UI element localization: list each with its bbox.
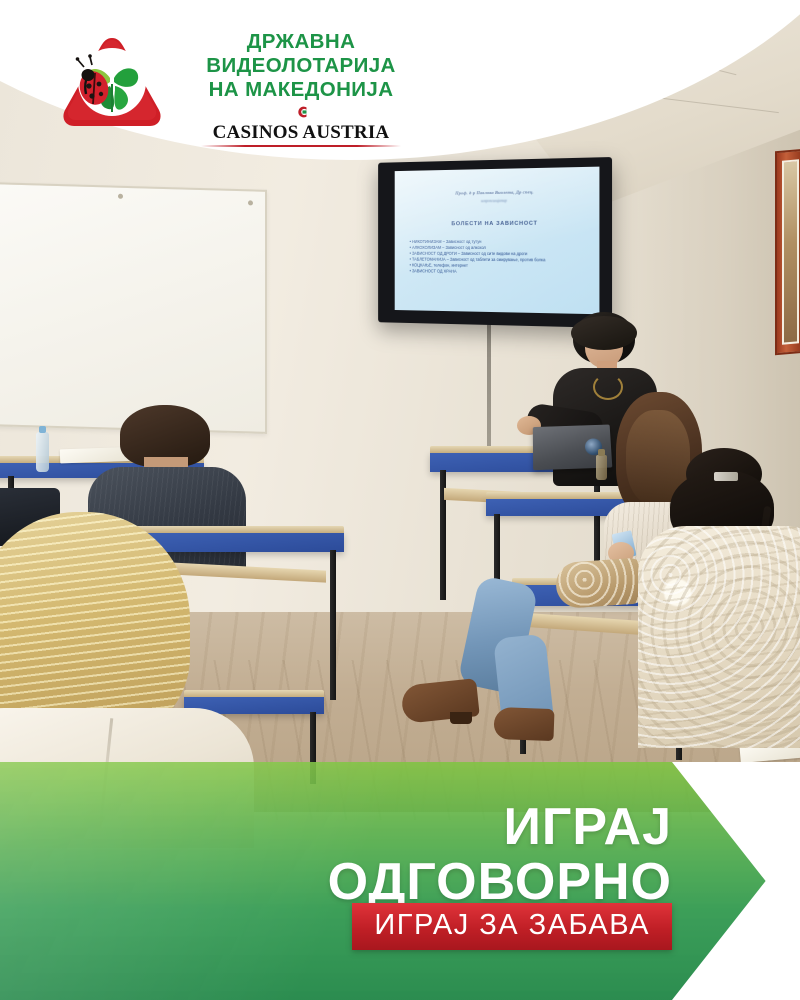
brand-line-2: НА МАКЕДОНИЈА [176, 78, 426, 102]
slide-bullet: • ЗАВИСНОСТ ОД ХРАНА [410, 269, 591, 277]
seated-legs [406, 590, 576, 730]
hair-clip [714, 472, 738, 481]
tv-mount [487, 322, 491, 454]
brand-text: ДРЖАВНА ВИДЕОЛОТАРИЈА НА МАКЕДОНИЈА CASI… [176, 30, 476, 147]
brand-line-1: ДРЖАВНА ВИДЕОЛОТАРИЈА [176, 30, 426, 78]
campaign-headline: ИГРАЈ ОДГОВОРНО [112, 800, 672, 910]
brand-logo: ДРЖАВНА ВИДЕОЛОТАРИЈА НА МАКЕДОНИЈА CASI… [58, 28, 378, 136]
headline-line-1: ИГРАЈ [112, 800, 672, 854]
drink-bottle [596, 455, 607, 480]
framed-picture [775, 149, 800, 356]
casinos-austria-rule [201, 145, 401, 147]
casinos-austria-name: CASINOS AUSTRIA [176, 123, 426, 143]
casinos-austria-c-icon [294, 106, 309, 118]
badge-text: ИГРАЈ ЗА ЗАБАВА [374, 910, 650, 941]
clover-ladybug-icon [58, 32, 166, 132]
whiteboard [0, 182, 267, 434]
campaign-badge: ИГРАЈ ЗА ЗАБАВА [352, 903, 672, 950]
attendee-woman-fur-coat [648, 448, 800, 748]
headline-line-2: ОДГОВОРНО [112, 854, 672, 910]
water-bottle [36, 432, 49, 472]
boot [493, 707, 554, 741]
poster-canvas: Проф. д-р Павлова Виолета, Др спец. невр… [0, 0, 800, 1000]
wall-mounted-tv: Проф. д-р Павлова Виолета, Др спец. невр… [378, 157, 612, 328]
casinos-austria-lockup: CASINOS AUSTRIA [176, 105, 426, 147]
presentation-screen: Проф. д-р Павлова Виолета, Др спец. невр… [395, 167, 600, 315]
